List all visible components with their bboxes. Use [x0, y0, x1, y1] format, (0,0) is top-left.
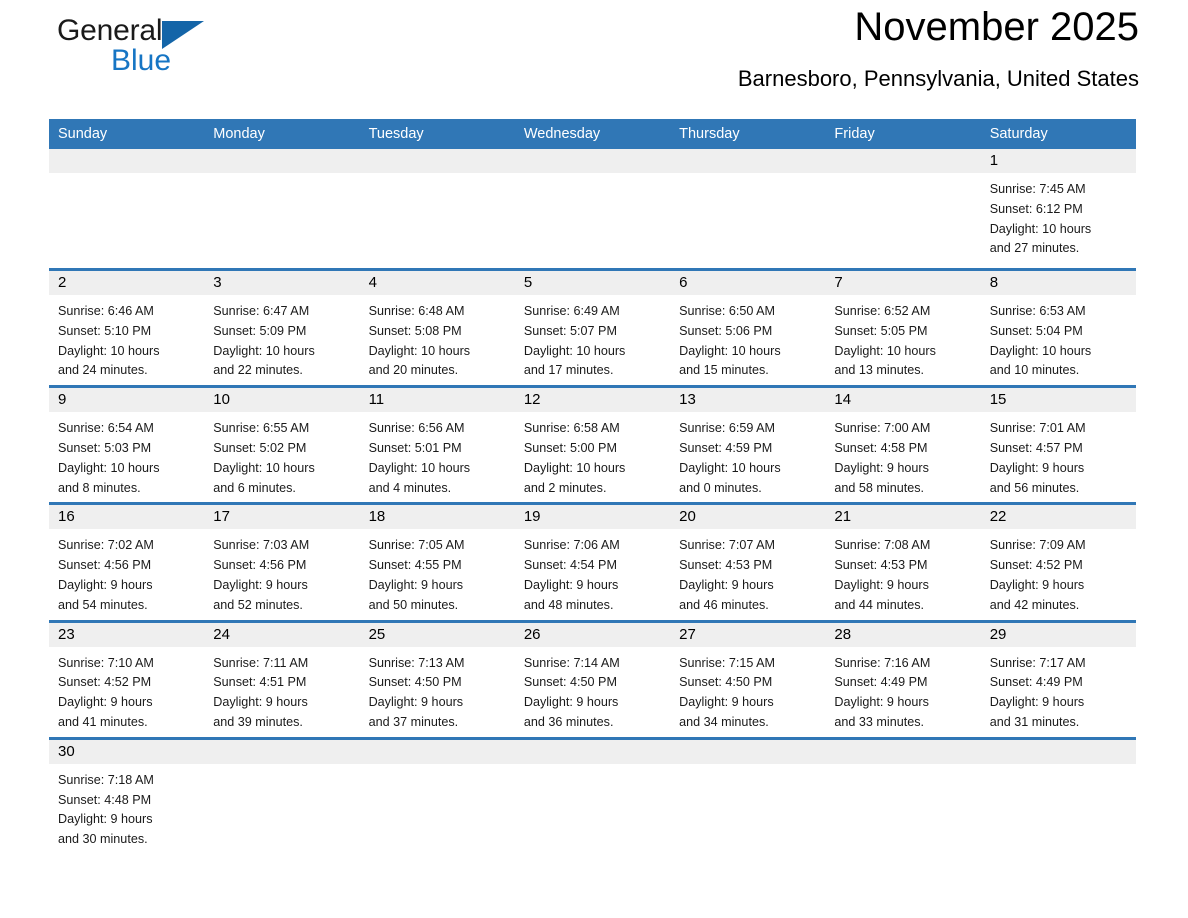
sunset-time: Sunset: 4:49 PM	[834, 673, 974, 693]
calendar-week-row: 9101112131415Sunrise: 6:54 AMSunset: 5:0…	[49, 385, 1136, 502]
day-number-empty	[670, 149, 825, 173]
week-detail-band: Sunrise: 6:54 AMSunset: 5:03 PMDaylight:…	[49, 412, 1136, 502]
sunset-time: Sunset: 4:51 PM	[213, 673, 353, 693]
sunrise-time: Sunrise: 7:16 AM	[834, 654, 974, 674]
day-cell-30[interactable]: Sunrise: 7:18 AMSunset: 4:48 PMDaylight:…	[49, 764, 204, 864]
daylight-duration-line2: and 15 minutes.	[679, 361, 819, 381]
sunrise-time: Sunrise: 6:59 AM	[679, 419, 819, 439]
day-cell-1[interactable]: Sunrise: 7:45 AMSunset: 6:12 PMDaylight:…	[981, 173, 1136, 268]
sunrise-time: Sunrise: 6:58 AM	[524, 419, 664, 439]
daylight-duration-line1: Daylight: 9 hours	[524, 693, 664, 713]
day-cell-empty	[49, 173, 204, 268]
day-cell-empty	[981, 764, 1136, 864]
daylight-duration-line2: and 48 minutes.	[524, 596, 664, 616]
day-cell-20[interactable]: Sunrise: 7:07 AMSunset: 4:53 PMDaylight:…	[670, 529, 825, 619]
day-number-27[interactable]: 27	[670, 623, 825, 647]
daylight-duration-line2: and 52 minutes.	[213, 596, 353, 616]
sunrise-time: Sunrise: 6:53 AM	[990, 302, 1130, 322]
weekday-header-friday: Friday	[825, 119, 980, 149]
sunset-time: Sunset: 4:49 PM	[990, 673, 1130, 693]
day-number-11[interactable]: 11	[360, 388, 515, 412]
day-number-4[interactable]: 4	[360, 271, 515, 295]
daylight-duration-line2: and 41 minutes.	[58, 713, 198, 733]
daylight-duration-line2: and 33 minutes.	[834, 713, 974, 733]
sunrise-time: Sunrise: 6:55 AM	[213, 419, 353, 439]
sunrise-time: Sunrise: 7:02 AM	[58, 536, 198, 556]
sunrise-time: Sunrise: 6:54 AM	[58, 419, 198, 439]
sunset-time: Sunset: 5:03 PM	[58, 439, 198, 459]
calendar-week-row: 2345678Sunrise: 6:46 AMSunset: 5:10 PMDa…	[49, 268, 1136, 385]
sunrise-time: Sunrise: 7:01 AM	[990, 419, 1130, 439]
location-subtitle: Barnesboro, Pennsylvania, United States	[738, 64, 1139, 94]
sunset-time: Sunset: 5:02 PM	[213, 439, 353, 459]
daylight-duration-line1: Daylight: 9 hours	[834, 576, 974, 596]
day-number-17[interactable]: 17	[204, 505, 359, 529]
day-number-1[interactable]: 1	[981, 149, 1136, 173]
daylight-duration-line1: Daylight: 10 hours	[679, 459, 819, 479]
sunrise-time: Sunrise: 7:17 AM	[990, 654, 1130, 674]
daylight-duration-line1: Daylight: 10 hours	[990, 342, 1130, 362]
day-cell-28[interactable]: Sunrise: 7:16 AMSunset: 4:49 PMDaylight:…	[825, 647, 980, 737]
daylight-duration-line2: and 50 minutes.	[369, 596, 509, 616]
daylight-duration-line1: Daylight: 10 hours	[58, 342, 198, 362]
daylight-duration-line1: Daylight: 9 hours	[990, 459, 1130, 479]
day-number-7[interactable]: 7	[825, 271, 980, 295]
day-number-24[interactable]: 24	[204, 623, 359, 647]
day-cell-25[interactable]: Sunrise: 7:13 AMSunset: 4:50 PMDaylight:…	[360, 647, 515, 737]
day-cell-empty	[360, 173, 515, 268]
sunset-time: Sunset: 4:56 PM	[213, 556, 353, 576]
page-title: November 2025	[738, 0, 1139, 54]
weekday-header-tuesday: Tuesday	[360, 119, 515, 149]
daylight-duration-line1: Daylight: 10 hours	[990, 220, 1130, 240]
sunset-time: Sunset: 4:52 PM	[990, 556, 1130, 576]
daylight-duration-line1: Daylight: 10 hours	[369, 459, 509, 479]
sunset-time: Sunset: 5:10 PM	[58, 322, 198, 342]
day-cell-11[interactable]: Sunrise: 6:56 AMSunset: 5:01 PMDaylight:…	[360, 412, 515, 502]
sunset-time: Sunset: 4:53 PM	[679, 556, 819, 576]
day-cell-23[interactable]: Sunrise: 7:10 AMSunset: 4:52 PMDaylight:…	[49, 647, 204, 737]
calendar-week-row: 1Sunrise: 7:45 AMSunset: 6:12 PMDaylight…	[49, 149, 1136, 268]
daylight-duration-line1: Daylight: 10 hours	[58, 459, 198, 479]
daylight-duration-line1: Daylight: 9 hours	[990, 693, 1130, 713]
daylight-duration-line2: and 31 minutes.	[990, 713, 1130, 733]
day-cell-15[interactable]: Sunrise: 7:01 AMSunset: 4:57 PMDaylight:…	[981, 412, 1136, 502]
daylight-duration-line2: and 39 minutes.	[213, 713, 353, 733]
day-cell-10[interactable]: Sunrise: 6:55 AMSunset: 5:02 PMDaylight:…	[204, 412, 359, 502]
daylight-duration-line2: and 10 minutes.	[990, 361, 1130, 381]
week-date-band: 30	[49, 740, 1136, 764]
day-cell-13[interactable]: Sunrise: 6:59 AMSunset: 4:59 PMDaylight:…	[670, 412, 825, 502]
day-number-8[interactable]: 8	[981, 271, 1136, 295]
day-number-15[interactable]: 15	[981, 388, 1136, 412]
sunrise-time: Sunrise: 7:18 AM	[58, 771, 198, 791]
weekday-header-thursday: Thursday	[670, 119, 825, 149]
daylight-duration-line1: Daylight: 10 hours	[369, 342, 509, 362]
day-cell-8[interactable]: Sunrise: 6:53 AMSunset: 5:04 PMDaylight:…	[981, 295, 1136, 385]
day-number-12[interactable]: 12	[515, 388, 670, 412]
day-cell-21[interactable]: Sunrise: 7:08 AMSunset: 4:53 PMDaylight:…	[825, 529, 980, 619]
daylight-duration-line2: and 27 minutes.	[990, 239, 1130, 259]
daylight-duration-line1: Daylight: 10 hours	[834, 342, 974, 362]
sunrise-time: Sunrise: 7:08 AM	[834, 536, 974, 556]
sunset-time: Sunset: 5:04 PM	[990, 322, 1130, 342]
calendar-page: General Blue November 2025 Barnesboro, P…	[0, 0, 1188, 918]
day-cell-24[interactable]: Sunrise: 7:11 AMSunset: 4:51 PMDaylight:…	[204, 647, 359, 737]
day-number-2[interactable]: 2	[49, 271, 204, 295]
daylight-duration-line2: and 44 minutes.	[834, 596, 974, 616]
day-cell-empty	[825, 173, 980, 268]
weekday-header-wednesday: Wednesday	[515, 119, 670, 149]
sunrise-time: Sunrise: 7:06 AM	[524, 536, 664, 556]
day-number-20[interactable]: 20	[670, 505, 825, 529]
day-number-14[interactable]: 14	[825, 388, 980, 412]
daylight-duration-line2: and 46 minutes.	[679, 596, 819, 616]
daylight-duration-line2: and 13 minutes.	[834, 361, 974, 381]
sunrise-time: Sunrise: 7:10 AM	[58, 654, 198, 674]
sunrise-time: Sunrise: 7:05 AM	[369, 536, 509, 556]
sunset-time: Sunset: 5:09 PM	[213, 322, 353, 342]
general-blue-logo: General Blue	[57, 14, 287, 92]
day-number-16[interactable]: 16	[49, 505, 204, 529]
day-cell-empty	[515, 764, 670, 864]
daylight-duration-line1: Daylight: 10 hours	[524, 459, 664, 479]
week-date-band: 16171819202122	[49, 505, 1136, 529]
logo-word-blue: Blue	[111, 44, 171, 78]
sunset-time: Sunset: 4:52 PM	[58, 673, 198, 693]
page-header: General Blue November 2025 Barnesboro, P…	[49, 0, 1139, 105]
sunrise-time: Sunrise: 6:52 AM	[834, 302, 974, 322]
day-cell-empty	[204, 173, 359, 268]
sunset-time: Sunset: 5:06 PM	[679, 322, 819, 342]
daylight-duration-line2: and 17 minutes.	[524, 361, 664, 381]
sunset-time: Sunset: 6:12 PM	[990, 200, 1130, 220]
sunset-time: Sunset: 5:08 PM	[369, 322, 509, 342]
daylight-duration-line1: Daylight: 10 hours	[524, 342, 664, 362]
sunset-time: Sunset: 4:48 PM	[58, 791, 198, 811]
day-number-empty	[515, 740, 670, 764]
daylight-duration-line1: Daylight: 9 hours	[524, 576, 664, 596]
sunset-time: Sunset: 4:55 PM	[369, 556, 509, 576]
day-cell-3[interactable]: Sunrise: 6:47 AMSunset: 5:09 PMDaylight:…	[204, 295, 359, 385]
sunset-time: Sunset: 5:07 PM	[524, 322, 664, 342]
day-number-empty	[49, 149, 204, 173]
daylight-duration-line1: Daylight: 9 hours	[834, 459, 974, 479]
sunrise-time: Sunrise: 6:50 AM	[679, 302, 819, 322]
day-cell-12[interactable]: Sunrise: 6:58 AMSunset: 5:00 PMDaylight:…	[515, 412, 670, 502]
day-number-26[interactable]: 26	[515, 623, 670, 647]
sunrise-time: Sunrise: 6:48 AM	[369, 302, 509, 322]
sunrise-time: Sunrise: 7:14 AM	[524, 654, 664, 674]
sunset-time: Sunset: 4:53 PM	[834, 556, 974, 576]
day-number-empty	[360, 740, 515, 764]
day-number-6[interactable]: 6	[670, 271, 825, 295]
day-cell-7[interactable]: Sunrise: 6:52 AMSunset: 5:05 PMDaylight:…	[825, 295, 980, 385]
title-block: November 2025 Barnesboro, Pennsylvania, …	[738, 0, 1139, 94]
week-detail-band: Sunrise: 7:02 AMSunset: 4:56 PMDaylight:…	[49, 529, 1136, 619]
week-detail-band: Sunrise: 7:18 AMSunset: 4:48 PMDaylight:…	[49, 764, 1136, 864]
day-cell-29[interactable]: Sunrise: 7:17 AMSunset: 4:49 PMDaylight:…	[981, 647, 1136, 737]
sunset-time: Sunset: 4:57 PM	[990, 439, 1130, 459]
day-number-empty	[204, 740, 359, 764]
daylight-duration-line2: and 20 minutes.	[369, 361, 509, 381]
day-number-28[interactable]: 28	[825, 623, 980, 647]
week-detail-band: Sunrise: 6:46 AMSunset: 5:10 PMDaylight:…	[49, 295, 1136, 385]
daylight-duration-line1: Daylight: 9 hours	[58, 576, 198, 596]
sunrise-time: Sunrise: 7:45 AM	[990, 180, 1130, 200]
daylight-duration-line1: Daylight: 9 hours	[990, 576, 1130, 596]
day-cell-16[interactable]: Sunrise: 7:02 AMSunset: 4:56 PMDaylight:…	[49, 529, 204, 619]
weekday-header-monday: Monday	[204, 119, 359, 149]
day-cell-9[interactable]: Sunrise: 6:54 AMSunset: 5:03 PMDaylight:…	[49, 412, 204, 502]
day-number-21[interactable]: 21	[825, 505, 980, 529]
daylight-duration-line1: Daylight: 10 hours	[213, 342, 353, 362]
daylight-duration-line2: and 34 minutes.	[679, 713, 819, 733]
day-cell-empty	[360, 764, 515, 864]
sunrise-time: Sunrise: 7:15 AM	[679, 654, 819, 674]
day-cell-19[interactable]: Sunrise: 7:06 AMSunset: 4:54 PMDaylight:…	[515, 529, 670, 619]
day-number-18[interactable]: 18	[360, 505, 515, 529]
day-number-empty	[981, 740, 1136, 764]
day-cell-22[interactable]: Sunrise: 7:09 AMSunset: 4:52 PMDaylight:…	[981, 529, 1136, 619]
weekday-header-saturday: Saturday	[981, 119, 1136, 149]
daylight-duration-line2: and 30 minutes.	[58, 830, 198, 850]
daylight-duration-line1: Daylight: 9 hours	[213, 576, 353, 596]
sunrise-time: Sunrise: 6:46 AM	[58, 302, 198, 322]
daylight-duration-line2: and 56 minutes.	[990, 479, 1130, 499]
day-cell-empty	[204, 764, 359, 864]
day-cell-2[interactable]: Sunrise: 6:46 AMSunset: 5:10 PMDaylight:…	[49, 295, 204, 385]
week-date-band: 1	[49, 149, 1136, 173]
sunset-time: Sunset: 4:58 PM	[834, 439, 974, 459]
day-number-10[interactable]: 10	[204, 388, 359, 412]
sunset-time: Sunset: 5:01 PM	[369, 439, 509, 459]
day-cell-4[interactable]: Sunrise: 6:48 AMSunset: 5:08 PMDaylight:…	[360, 295, 515, 385]
calendar-table: SundayMondayTuesdayWednesdayThursdayFrid…	[49, 119, 1136, 864]
day-cell-26[interactable]: Sunrise: 7:14 AMSunset: 4:50 PMDaylight:…	[515, 647, 670, 737]
day-cell-17[interactable]: Sunrise: 7:03 AMSunset: 4:56 PMDaylight:…	[204, 529, 359, 619]
daylight-duration-line1: Daylight: 9 hours	[369, 693, 509, 713]
calendar-week-row: 30Sunrise: 7:18 AMSunset: 4:48 PMDayligh…	[49, 737, 1136, 864]
week-date-band: 2345678	[49, 271, 1136, 295]
day-number-22[interactable]: 22	[981, 505, 1136, 529]
day-number-empty	[825, 740, 980, 764]
daylight-duration-line1: Daylight: 9 hours	[58, 810, 198, 830]
daylight-duration-line2: and 2 minutes.	[524, 479, 664, 499]
sunrise-time: Sunrise: 6:56 AM	[369, 419, 509, 439]
day-cell-empty	[515, 173, 670, 268]
day-number-empty	[360, 149, 515, 173]
daylight-duration-line2: and 37 minutes.	[369, 713, 509, 733]
sunset-time: Sunset: 4:50 PM	[369, 673, 509, 693]
sunset-time: Sunset: 5:05 PM	[834, 322, 974, 342]
week-detail-band: Sunrise: 7:10 AMSunset: 4:52 PMDaylight:…	[49, 647, 1136, 737]
calendar-week-row: 16171819202122Sunrise: 7:02 AMSunset: 4:…	[49, 502, 1136, 619]
week-date-band: 9101112131415	[49, 388, 1136, 412]
day-number-30[interactable]: 30	[49, 740, 204, 764]
daylight-duration-line2: and 4 minutes.	[369, 479, 509, 499]
sunrise-time: Sunrise: 6:49 AM	[524, 302, 664, 322]
daylight-duration-line2: and 58 minutes.	[834, 479, 974, 499]
calendar-week-row: 23242526272829Sunrise: 7:10 AMSunset: 4:…	[49, 620, 1136, 737]
day-cell-5[interactable]: Sunrise: 6:49 AMSunset: 5:07 PMDaylight:…	[515, 295, 670, 385]
daylight-duration-line1: Daylight: 9 hours	[834, 693, 974, 713]
sunrise-time: Sunrise: 7:03 AM	[213, 536, 353, 556]
sunrise-time: Sunrise: 7:07 AM	[679, 536, 819, 556]
day-number-9[interactable]: 9	[49, 388, 204, 412]
daylight-duration-line1: Daylight: 9 hours	[679, 576, 819, 596]
daylight-duration-line2: and 8 minutes.	[58, 479, 198, 499]
week-date-band: 23242526272829	[49, 623, 1136, 647]
daylight-duration-line2: and 36 minutes.	[524, 713, 664, 733]
weekday-header-row: SundayMondayTuesdayWednesdayThursdayFrid…	[49, 119, 1136, 149]
day-cell-14[interactable]: Sunrise: 7:00 AMSunset: 4:58 PMDaylight:…	[825, 412, 980, 502]
day-cell-empty	[825, 764, 980, 864]
day-cell-27[interactable]: Sunrise: 7:15 AMSunset: 4:50 PMDaylight:…	[670, 647, 825, 737]
daylight-duration-line1: Daylight: 9 hours	[58, 693, 198, 713]
weekday-header-sunday: Sunday	[49, 119, 204, 149]
daylight-duration-line1: Daylight: 10 hours	[679, 342, 819, 362]
daylight-duration-line1: Daylight: 9 hours	[679, 693, 819, 713]
day-cell-empty	[670, 173, 825, 268]
daylight-duration-line2: and 0 minutes.	[679, 479, 819, 499]
day-number-19[interactable]: 19	[515, 505, 670, 529]
day-number-13[interactable]: 13	[670, 388, 825, 412]
logo-word-general: General	[57, 14, 162, 48]
daylight-duration-line2: and 54 minutes.	[58, 596, 198, 616]
calendar-weeks: 1Sunrise: 7:45 AMSunset: 6:12 PMDaylight…	[49, 149, 1136, 864]
daylight-duration-line1: Daylight: 9 hours	[213, 693, 353, 713]
sunrise-time: Sunrise: 7:11 AM	[213, 654, 353, 674]
day-cell-empty	[670, 764, 825, 864]
sunset-time: Sunset: 4:50 PM	[524, 673, 664, 693]
sunset-time: Sunset: 4:59 PM	[679, 439, 819, 459]
daylight-duration-line1: Daylight: 10 hours	[213, 459, 353, 479]
sunset-time: Sunset: 4:56 PM	[58, 556, 198, 576]
daylight-duration-line2: and 6 minutes.	[213, 479, 353, 499]
sunset-time: Sunset: 5:00 PM	[524, 439, 664, 459]
daylight-duration-line1: Daylight: 9 hours	[369, 576, 509, 596]
daylight-duration-line2: and 22 minutes.	[213, 361, 353, 381]
day-number-empty	[825, 149, 980, 173]
sunset-time: Sunset: 4:50 PM	[679, 673, 819, 693]
day-number-29[interactable]: 29	[981, 623, 1136, 647]
day-number-3[interactable]: 3	[204, 271, 359, 295]
sunset-time: Sunset: 4:54 PM	[524, 556, 664, 576]
sunrise-time: Sunrise: 7:13 AM	[369, 654, 509, 674]
sunrise-time: Sunrise: 7:00 AM	[834, 419, 974, 439]
day-cell-18[interactable]: Sunrise: 7:05 AMSunset: 4:55 PMDaylight:…	[360, 529, 515, 619]
sunrise-time: Sunrise: 7:09 AM	[990, 536, 1130, 556]
day-cell-6[interactable]: Sunrise: 6:50 AMSunset: 5:06 PMDaylight:…	[670, 295, 825, 385]
day-number-empty	[515, 149, 670, 173]
day-number-23[interactable]: 23	[49, 623, 204, 647]
day-number-empty	[670, 740, 825, 764]
daylight-duration-line2: and 42 minutes.	[990, 596, 1130, 616]
day-number-5[interactable]: 5	[515, 271, 670, 295]
day-number-25[interactable]: 25	[360, 623, 515, 647]
week-detail-band: Sunrise: 7:45 AMSunset: 6:12 PMDaylight:…	[49, 173, 1136, 268]
sunrise-time: Sunrise: 6:47 AM	[213, 302, 353, 322]
daylight-duration-line2: and 24 minutes.	[58, 361, 198, 381]
day-number-empty	[204, 149, 359, 173]
